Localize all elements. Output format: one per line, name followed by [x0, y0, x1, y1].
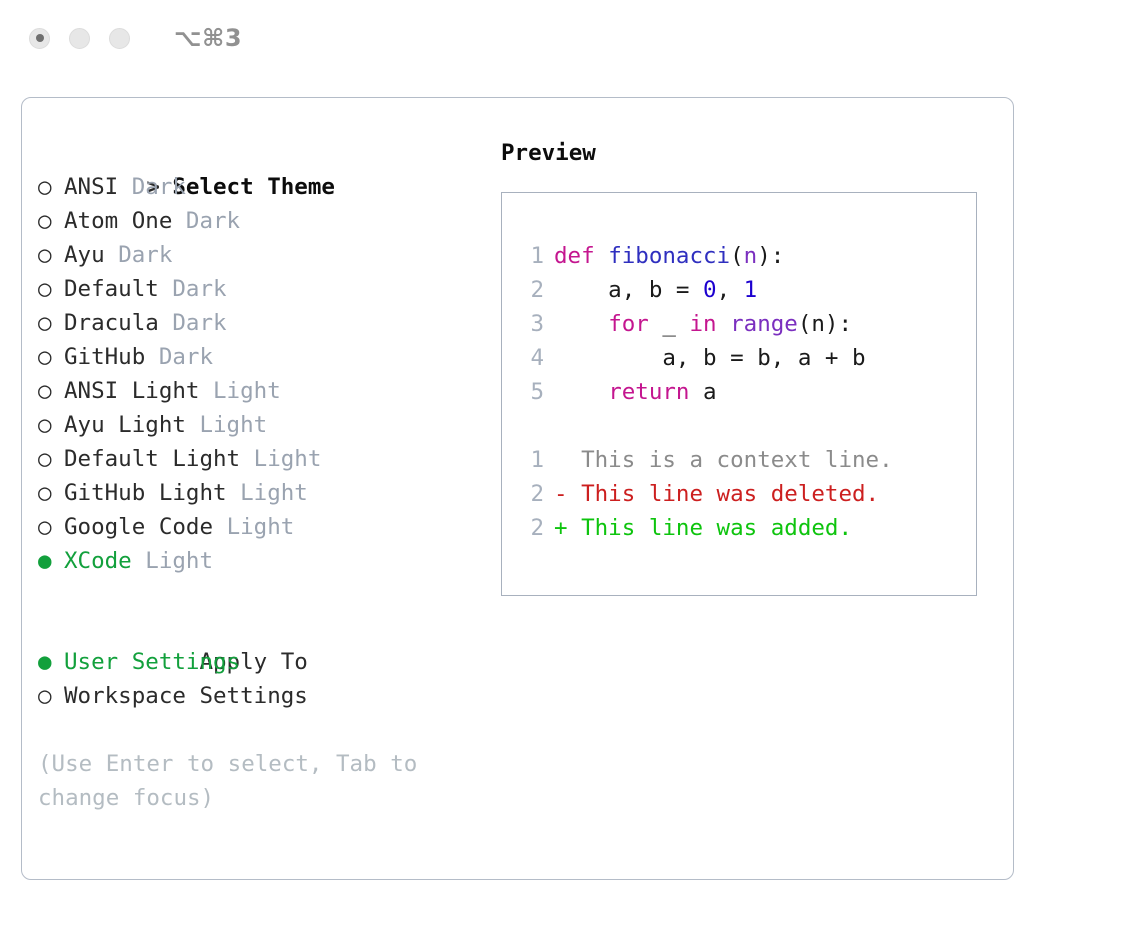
code-token: in — [689, 311, 716, 337]
theme-option-label: ANSI Light — [64, 378, 213, 404]
diff-line-text: - This line was deleted. — [554, 481, 879, 507]
theme-option-label: Default — [64, 276, 172, 302]
theme-options-list: ○ANSI Dark○Atom One Dark○Ayu Dark○Defaul… — [38, 170, 478, 578]
code-token: fibonacci — [608, 243, 730, 269]
theme-variant-label: Dark — [172, 310, 226, 336]
theme-option-default[interactable]: ○Default Dark — [38, 272, 478, 306]
code-line-number: 5 — [516, 375, 544, 409]
theme-variant-label: Dark — [159, 344, 213, 370]
theme-option-label: XCode — [64, 548, 145, 574]
radio-unselected-icon: ○ — [38, 306, 64, 340]
apply-to-option-workspace-settings[interactable]: ○Workspace Settings — [38, 679, 478, 713]
theme-variant-label: Light — [254, 446, 322, 472]
radio-unselected-icon: ○ — [38, 408, 64, 442]
theme-option-dracula[interactable]: ○Dracula Dark — [38, 306, 478, 340]
code-line: 4 a, b = b, a + b — [516, 341, 970, 375]
theme-option-label: Default Light — [64, 446, 254, 472]
preview-code-area: 1def fibonacci(n):2 a, b = 0, 13 for _ i… — [516, 239, 970, 545]
diff-line-number: 2 — [516, 511, 544, 545]
code-line: 5 return a — [516, 375, 970, 409]
radio-selected-icon: ● — [38, 544, 64, 578]
theme-option-label: Google Code — [64, 514, 227, 540]
code-token: ): — [757, 243, 784, 269]
code-line-number: 1 — [516, 239, 544, 273]
radio-unselected-icon: ○ — [38, 374, 64, 408]
code-line-number: 2 — [516, 273, 544, 307]
theme-variant-label: Dark — [172, 276, 226, 302]
code-token: for — [608, 311, 649, 337]
diff-line-del: 2- This line was deleted. — [516, 477, 970, 511]
preview-column: Preview 1def fibonacci(n):2 a, b = 0, 13… — [501, 136, 991, 596]
code-token: ( — [730, 243, 744, 269]
apply-to-option-label: Workspace Settings — [64, 683, 308, 709]
keyboard-hint-line-2: change focus) — [38, 781, 478, 815]
code-token: (n): — [798, 311, 852, 337]
theme-option-label: Ayu Light — [64, 412, 199, 438]
code-token: , — [717, 277, 744, 303]
theme-option-google-code[interactable]: ○Google Code Light — [38, 510, 478, 544]
radio-unselected-icon: ○ — [38, 340, 64, 374]
code-token: a — [689, 379, 716, 405]
code-line-number: 3 — [516, 307, 544, 341]
code-token: 1 — [744, 277, 758, 303]
radio-unselected-icon: ○ — [38, 442, 64, 476]
title-bar: ⌥⌘3 — [0, 0, 1140, 76]
theme-option-xcode[interactable]: ●XCode Light — [38, 544, 478, 578]
theme-option-github-light[interactable]: ○GitHub Light Light — [38, 476, 478, 510]
select-theme-label: Select Theme — [172, 174, 335, 200]
theme-option-label: Atom One — [64, 208, 186, 234]
theme-variant-label: Light — [145, 548, 213, 574]
theme-option-ansi-light[interactable]: ○ANSI Light Light — [38, 374, 478, 408]
diff-line-text: + This line was added. — [554, 515, 852, 541]
keyboard-hint: (Use Enter to select, Tab to change focu… — [38, 747, 478, 815]
app-window: ⌥⌘3 >Select Theme ○ANSI Dark○Atom One Da… — [0, 0, 1140, 934]
theme-variant-label: Dark — [186, 208, 240, 234]
code-line-number: 4 — [516, 341, 544, 375]
code-token — [554, 311, 608, 337]
select-theme-header: >Select Theme — [38, 136, 478, 170]
preview-title: Preview — [501, 136, 991, 170]
theme-variant-label: Light — [213, 378, 281, 404]
code-token: a, b = b, a + b — [554, 345, 866, 371]
diff-line-number: 2 — [516, 477, 544, 511]
code-token: _ — [649, 311, 690, 337]
theme-option-atom-one[interactable]: ○Atom One Dark — [38, 204, 478, 238]
theme-option-label: GitHub — [64, 344, 159, 370]
theme-variant-label: Light — [227, 514, 295, 540]
diff-line-text: This is a context line. — [554, 447, 893, 473]
apply-to-section: Apply To ●User Settings○Workspace Settin… — [38, 611, 478, 713]
theme-list-column: >Select Theme ○ANSI Dark○Atom One Dark○A… — [38, 136, 478, 815]
code-token: n — [744, 243, 758, 269]
window-dot-inner — [36, 34, 44, 42]
theme-selector-panel: >Select Theme ○ANSI Dark○Atom One Dark○A… — [21, 97, 1014, 880]
diff-line-ctx: 1 This is a context line. — [516, 443, 970, 477]
diff-line-add: 2+ This line was added. — [516, 511, 970, 545]
window-dot-second-icon[interactable] — [69, 28, 90, 49]
radio-unselected-icon: ○ — [38, 476, 64, 510]
code-line: 3 for _ in range(n): — [516, 307, 970, 341]
code-token: def — [554, 243, 608, 269]
code-token: a, b = — [554, 277, 703, 303]
radio-unselected-icon: ○ — [38, 170, 64, 204]
theme-option-default-light[interactable]: ○Default Light Light — [38, 442, 478, 476]
radio-unselected-icon: ○ — [38, 204, 64, 238]
preview-box: 1def fibonacci(n):2 a, b = 0, 13 for _ i… — [501, 192, 977, 596]
theme-variant-label: Dark — [118, 242, 172, 268]
code-line: 1def fibonacci(n): — [516, 239, 970, 273]
code-line: 2 a, b = 0, 1 — [516, 273, 970, 307]
keyboard-shortcut-label: ⌥⌘3 — [174, 24, 242, 52]
theme-option-ayu-light[interactable]: ○Ayu Light Light — [38, 408, 478, 442]
window-dot-active-icon[interactable] — [29, 28, 50, 49]
code-token: range — [730, 311, 798, 337]
code-token — [717, 311, 731, 337]
code-token — [554, 379, 608, 405]
theme-option-label: Ayu — [64, 242, 118, 268]
code-token: return — [608, 379, 689, 405]
diff-line-number: 1 — [516, 443, 544, 477]
theme-option-ayu[interactable]: ○Ayu Dark — [38, 238, 478, 272]
apply-to-option-label: User Settings — [64, 649, 240, 675]
code-diff-separator — [516, 409, 970, 443]
theme-variant-label: Light — [240, 480, 308, 506]
theme-option-github[interactable]: ○GitHub Dark — [38, 340, 478, 374]
theme-option-label: GitHub Light — [64, 480, 240, 506]
theme-variant-label: Dark — [132, 174, 186, 200]
radio-unselected-icon: ○ — [38, 510, 64, 544]
keyboard-hint-line-1: (Use Enter to select, Tab to — [38, 747, 478, 781]
window-dot-third-icon[interactable] — [109, 28, 130, 49]
apply-to-heading: Apply To — [38, 611, 478, 645]
theme-variant-label: Light — [199, 412, 267, 438]
radio-unselected-icon: ○ — [38, 238, 64, 272]
radio-unselected-icon: ○ — [38, 679, 64, 713]
theme-option-label: ANSI — [64, 174, 132, 200]
radio-unselected-icon: ○ — [38, 272, 64, 306]
radio-selected-icon: ● — [38, 645, 64, 679]
theme-option-label: Dracula — [64, 310, 172, 336]
code-token: 0 — [703, 277, 717, 303]
